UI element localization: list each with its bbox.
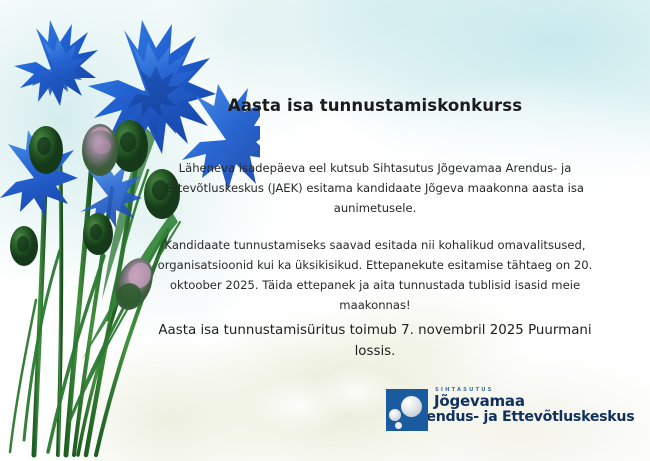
logo-line-1: Jõgevamaa [434,394,634,409]
cornflower-small-mid [80,160,142,228]
event-paragraph: Aasta isa tunnustamisüritus toimub 7. no… [140,320,610,362]
circle-small-icon [395,422,402,429]
circle-large-icon [401,396,422,417]
circle-medium-icon [389,409,401,421]
details-paragraph: Kandidaate tunnustamiseks saavad esitada… [140,235,610,315]
flower-bud [10,226,38,266]
poster-canvas: Aasta isa tunnustamiskonkurss Läheneva i… [0,0,650,461]
logo-line-2: Arendus- ja Ettevõtluskeskus [409,410,634,424]
jaek-logo[interactable]: SIHTASUTUS Jõgevamaa Arendus- ja Ettevõt… [386,388,618,436]
jaek-logo-text: SIHTASUTUS Jõgevamaa Arendus- ja Ettevõt… [433,388,634,424]
flower-bud [83,213,113,255]
jaek-logo-mark-icon [386,389,428,431]
flower-bud [29,126,63,174]
cornflower-left-lower [0,130,78,218]
flower-bud-opening [82,124,118,176]
page-title: Aasta isa tunnustamiskonkurss [140,96,610,115]
cornflower-top-left [14,20,98,106]
intro-paragraph: Läheneva isadepäeva eel kutsub Sihtasutu… [140,158,610,218]
